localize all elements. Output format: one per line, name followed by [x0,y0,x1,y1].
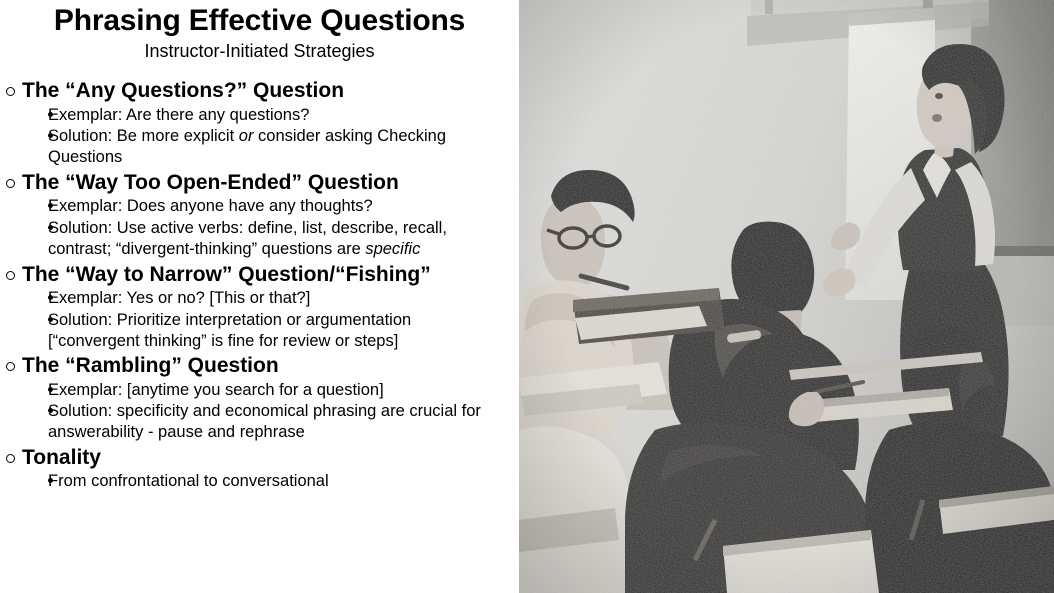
outline-point-row: Exemplar: Yes or no? [This or that?] [0,287,519,309]
outline-heading-text: The “Rambling” Question [22,354,519,378]
classroom-photo-image [519,0,1054,593]
outline-section: The “Way Too Open-Ended” QuestionExempla… [0,168,519,260]
slide-text-pane: Phrasing Effective Questions Instructor-… [0,0,519,593]
classroom-photo [519,0,1054,593]
hollow-circle-bullet-icon [0,177,22,192]
outline-point-text: Solution: Use active verbs: define, list… [48,218,519,260]
outline-point-row: Exemplar: [anytime you search for a ques… [0,379,519,401]
slide-subtitle: Instructor-Initiated Strategies [10,41,509,63]
title-block: Phrasing Effective Questions Instructor-… [0,0,519,62]
outline-point-text: Solution: Prioritize interpretation or a… [48,310,519,352]
hollow-circle-bullet-icon [0,452,22,467]
outline-section: The “Rambling” QuestionExemplar: [anytim… [0,351,519,443]
outline-point-row: Solution: specificity and economical phr… [0,400,519,443]
outline-heading-text: Tonality [22,446,519,470]
outline-heading-row: The “Way Too Open-Ended” Question [0,168,519,195]
outline-point-row: Solution: Be more explicit or consider a… [0,125,519,168]
outline-point-row: Exemplar: Does anyone have any thoughts? [0,195,519,217]
outline-section: The “Any Questions?” QuestionExemplar: A… [0,76,519,168]
outline-point-row: From confrontational to conversational [0,470,519,492]
emphasis-text: or [239,127,254,145]
outline-heading-row: The “Any Questions?” Question [0,76,519,103]
emphasis-text: specific [365,240,420,258]
outline-point-text: Exemplar: Are there any questions? [48,105,519,126]
filled-bullet-icon [0,199,48,214]
outline-point-text: From confrontational to conversational [48,471,519,492]
hollow-circle-bullet-icon [0,85,22,100]
filled-bullet-icon [0,108,48,123]
outline-heading-row: The “Way to Narrow” Question/“Fishing” [0,260,519,287]
outline-point-row: Solution: Prioritize interpretation or a… [0,309,519,352]
outline-point-text: Exemplar: Yes or no? [This or that?] [48,288,519,309]
outline-point-text: Exemplar: [anytime you search for a ques… [48,380,519,401]
outline-point-row: Solution: Use active verbs: define, list… [0,217,519,260]
outline-point-row: Exemplar: Are there any questions? [0,104,519,126]
outline-heading-text: The “Way Too Open-Ended” Question [22,171,519,195]
filled-bullet-icon [0,474,48,489]
outline-heading-text: The “Way to Narrow” Question/“Fishing” [22,263,519,287]
filled-bullet-icon [0,221,48,236]
outline-section: The “Way to Narrow” Question/“Fishing”Ex… [0,260,519,352]
outline-point-text: Solution: Be more explicit or consider a… [48,126,519,168]
outline-point-text: Exemplar: Does anyone have any thoughts? [48,196,519,217]
hollow-circle-bullet-icon [0,360,22,375]
hollow-circle-bullet-icon [0,269,22,284]
filled-bullet-icon [0,129,48,144]
outline-section: TonalityFrom confrontational to conversa… [0,443,519,492]
filled-bullet-icon [0,383,48,398]
outline-list: The “Any Questions?” QuestionExemplar: A… [0,76,519,492]
outline-heading-text: The “Any Questions?” Question [22,79,519,103]
filled-bullet-icon [0,313,48,328]
slide-title: Phrasing Effective Questions [10,4,509,38]
presentation-slide: Phrasing Effective Questions Instructor-… [0,0,1054,593]
outline-point-text: Solution: specificity and economical phr… [48,401,519,443]
outline-heading-row: The “Rambling” Question [0,351,519,378]
outline-heading-row: Tonality [0,443,519,470]
filled-bullet-icon [0,404,48,419]
filled-bullet-icon [0,291,48,306]
